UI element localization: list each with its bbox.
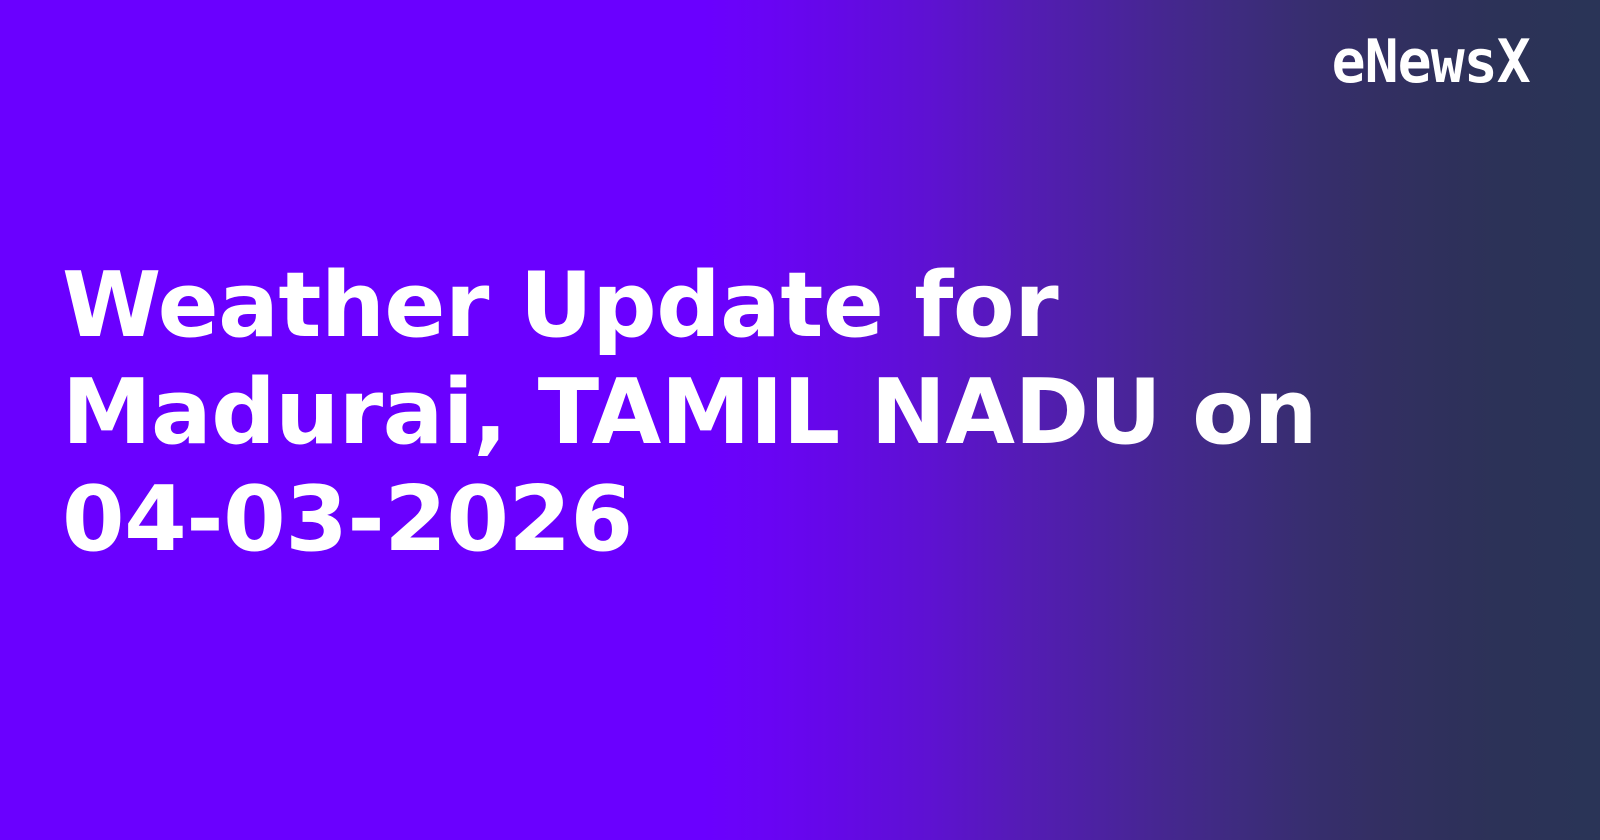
- brand-logo-text: eNewsX: [1332, 32, 1530, 92]
- brand-logo[interactable]: eNewsX: [1319, 30, 1530, 94]
- weather-update-banner: eNewsX Weather Update for Madurai, TAMIL…: [0, 0, 1600, 840]
- headline-block: Weather Update for Madurai, TAMIL NADU o…: [62, 252, 1482, 573]
- page-title: Weather Update for Madurai, TAMIL NADU o…: [62, 252, 1482, 573]
